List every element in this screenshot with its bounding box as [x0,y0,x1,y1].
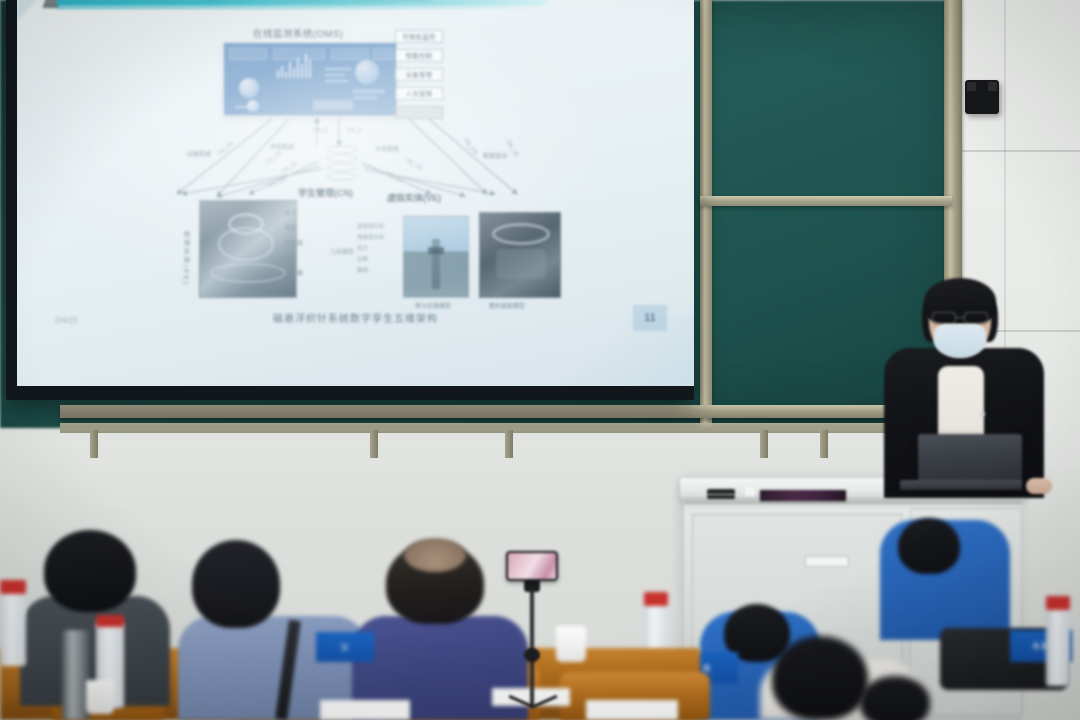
screenshot-root: 研究方案及成果—磁悬浮针织系统数字孪生五维模型 在线监测系统(OMS) [0,0,1080,720]
glasses-icon [932,312,988,324]
bottle-cap-mid [644,592,668,606]
tray-leg-4 [760,430,768,458]
smartphone-recording[interactable] [506,551,558,581]
flow-label-data-driven: 数据驱动 [483,151,507,160]
cable-1 [700,494,744,495]
podium-edge [684,498,1022,504]
chalk-tray-upper [60,405,960,418]
component-list: 定子 电机 控制器 导轨 传感器 [285,207,303,282]
arrow-io-label-cn-s: CN_S [347,128,362,134]
geometry-model-note: 几何模型 [330,247,354,256]
presenter-hand [1026,478,1052,494]
flow-label-device-data: 设备数据 [187,149,211,158]
paper-sheet-1 [320,700,410,720]
slide-page-number: 11 [633,305,667,331]
paper-sheet-3 [586,700,678,720]
ve-node-label: 虚拟实体(VE) [387,191,441,204]
tray-leg-3 [505,430,513,458]
audience-head-1 [898,518,960,574]
power-adapter [745,487,755,496]
tray-leg-2 [370,430,378,458]
projection-screen-frame: 研究方案及成果—磁悬浮针织系统数字孪生五维模型 在线监测系统(OMS) [6,0,694,400]
mouse-pad [760,490,846,501]
cn-node-icon [327,146,357,186]
physical-entity-label: 物理实体(PE) [180,231,190,286]
slide-caption: 磁悬浮织针系统数字孪生五维架构 [17,310,694,325]
podium-label-tag [805,556,849,567]
slide-date: 2/4/23 [55,316,77,325]
audience-bald-spot [404,538,466,572]
slide-arrow-layer [17,0,694,386]
laptop-lid: Y [918,434,1022,484]
water-bottle-right [1046,600,1070,686]
face-mask-icon [934,324,986,358]
projector-mount-icon [965,80,999,114]
flow-label-business-data: 业务数据 [375,144,399,153]
blackboard-divider [700,0,712,428]
tray-leg-1 [90,430,98,458]
jacket-emblem-icon: ✦ [978,408,992,420]
audience-head-gray [44,530,136,612]
paper-cup-2 [556,626,586,662]
slide: 研究方案及成果—磁悬浮针织系统数字孪生五维模型 在线监测系统(OMS) [17,0,694,386]
arrow-io-label-cn-d: CN_D [313,128,328,134]
projection-screen: 研究方案及成果—磁悬浮针织系统数字孪生五维模型 在线监测系统(OMS) [17,0,694,386]
audience-head-front-1 [772,636,868,720]
water-bottle-left [0,586,26,666]
assembly-model-photo [479,212,561,298]
paper-cup-1 [86,680,114,714]
bottle-cap-left [0,580,26,594]
name-placard-left: 汉 [316,632,374,662]
flow-label-sensor-data: 传感数据 [270,142,294,151]
audience-head-blue-front [192,540,280,628]
ve-annotation-list: 温度场分析 电磁场分布 应力 位移 磁场 [357,222,385,277]
laptop-base [900,480,1022,490]
tripod-joint [524,648,540,662]
cn-node-label: 学生管理(CN) [298,186,353,199]
bottle-cap-2 [96,615,124,627]
blackboard-mid-rail [700,196,952,206]
physical-entity-photo [199,200,297,298]
audience-head-front-2 [860,676,930,720]
unit-simulation-photo [403,216,469,298]
assembly-model-caption: 整机装配模型 [489,301,525,310]
wall-seam-1 [960,150,1080,152]
bottle-cap-right [1046,596,1070,610]
unit-simulation-caption: 单元仿真模型 [415,301,451,310]
phone-screen [508,553,556,579]
tray-leg-5 [820,430,828,458]
